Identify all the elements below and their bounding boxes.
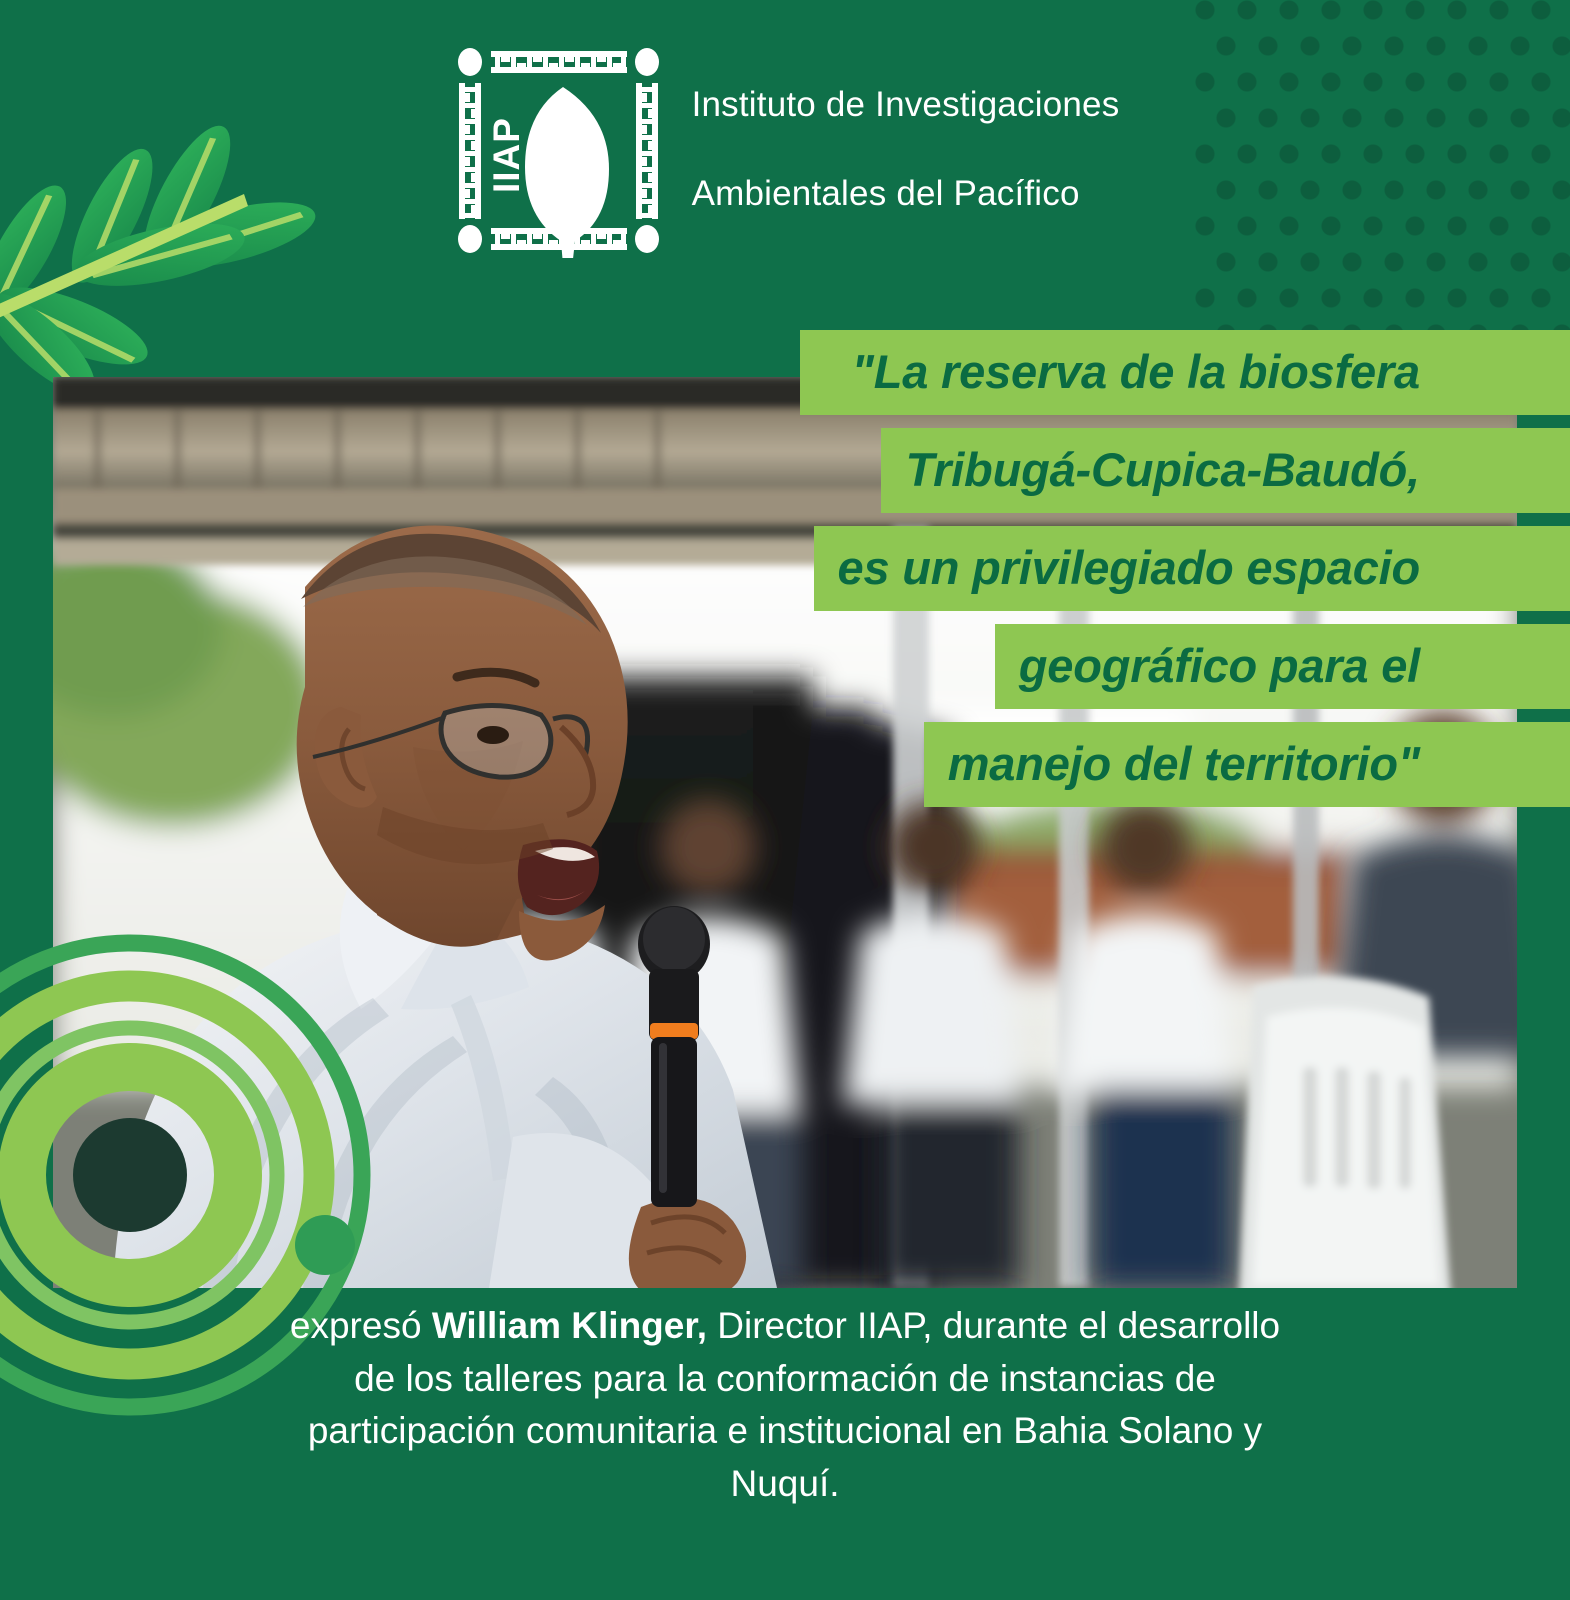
quote-line-row: Tribugá-Cupica-Baudó, xyxy=(0,428,1570,513)
org-name-line2: Ambientales del Pacífico xyxy=(692,172,1120,217)
org-name: Instituto de Investigaciones Ambientales… xyxy=(692,38,1120,262)
quote-line-3: es un privilegiado espacio xyxy=(814,526,1570,611)
quote-line-5: manejo del territorio" xyxy=(924,722,1570,807)
quote-block: "La reserva de la biosfera Tribugá-Cupic… xyxy=(0,330,1570,820)
quote-line-1-text: "La reserva de la biosfera xyxy=(828,344,1570,399)
quote-line-4-text: geográfico para el xyxy=(995,638,1570,693)
svg-text:IIAP: IIAP xyxy=(486,117,527,193)
org-name-line1: Instituto de Investigaciones xyxy=(692,83,1120,128)
brand-header: IIAP Instituto de Investigaciones Ambien… xyxy=(0,0,1570,300)
quote-line-5-text: manejo del territorio" xyxy=(924,736,1570,791)
quote-line-4: geográfico para el xyxy=(995,624,1570,709)
quote-line-2: Tribugá-Cupica-Baudó, xyxy=(881,428,1570,513)
iiap-leaf-logo-icon: IIAP xyxy=(451,43,666,258)
caption-text: expresó William Klinger, Director IIAP, … xyxy=(0,1300,1570,1510)
quote-line-row: manejo del territorio" xyxy=(0,722,1570,807)
poster-canvas: IIAP Instituto de Investigaciones Ambien… xyxy=(0,0,1570,1600)
quote-line-row: geográfico para el xyxy=(0,624,1570,709)
caption-attribution-name: William Klinger, xyxy=(432,1305,707,1346)
caption-prefix: expresó xyxy=(290,1305,432,1346)
quote-line-3-text: es un privilegiado espacio xyxy=(814,540,1570,595)
quote-line-row: es un privilegiado espacio xyxy=(0,526,1570,611)
quote-line-2-text: Tribugá-Cupica-Baudó, xyxy=(881,442,1570,497)
quote-line-1: "La reserva de la biosfera xyxy=(800,330,1570,415)
quote-line-row: "La reserva de la biosfera xyxy=(0,330,1570,415)
